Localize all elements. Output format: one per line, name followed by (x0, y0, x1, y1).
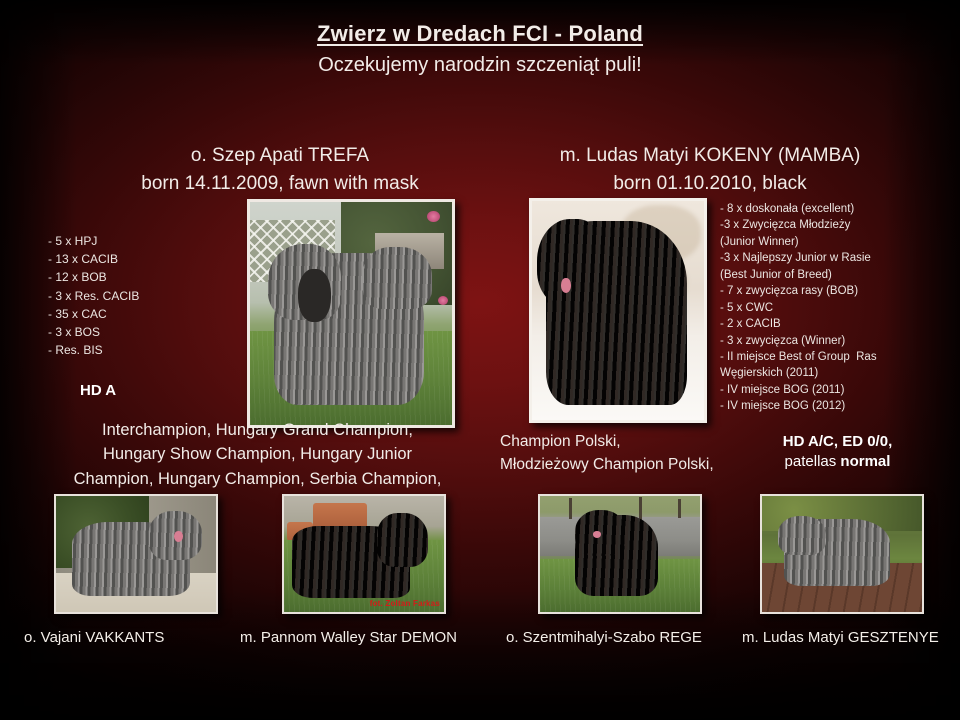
dam-title-line: Młodzieżowy Champion Polski, (500, 454, 750, 477)
sire-hd-label: HD A (80, 382, 116, 399)
dam-birth: born 01.10.2010, black (500, 170, 920, 198)
grandparent-photo-3 (538, 494, 702, 614)
dog-tongue (561, 278, 571, 293)
list-item: - 3 x zwycięzca (Winner) (720, 333, 920, 349)
dam-photo (529, 198, 707, 423)
flower (438, 296, 448, 305)
list-item: -3 x Zwycięzca Młodzieży (720, 217, 920, 233)
presentation-slide: Zwierz w Dredach FCI - Poland Oczekujemy… (0, 0, 960, 720)
sire-titles: Interchampion, Hungary Grand Champion, H… (55, 418, 460, 491)
list-item: (Junior Winner) (720, 234, 920, 250)
grandparent-photo-4 (760, 494, 924, 614)
grandparent-caption-4: m. Ludas Matyi GESZTENYE (742, 629, 939, 646)
dog-head (537, 219, 606, 307)
sire-title-line: Champion, Hungary Champion, Serbia Champ… (55, 467, 460, 491)
dam-name: m. Ludas Matyi KOKENY (MAMBA) (500, 142, 920, 170)
page-title: Zwierz w Dredach FCI - Poland (0, 20, 960, 48)
list-item: - 12 x BOB (48, 268, 139, 286)
tree (569, 498, 572, 519)
list-item: - 2 x CACIB (720, 316, 920, 332)
dog-tongue (593, 531, 601, 538)
sire-title-line: Hungary Show Champion, Hungary Junior (55, 442, 460, 466)
photo-scene (284, 496, 444, 612)
grandparent-caption-2: m. Pannom Walley Star DEMON (240, 629, 457, 646)
flower (427, 211, 440, 222)
list-item: - 35 x CAC (48, 305, 139, 323)
tree (639, 497, 642, 520)
grandparent-photo-2: fot. Zoltan Farkas (282, 494, 446, 614)
page-subtitle: Oczekujemy narodzin szczeniąt puli! (0, 53, 960, 78)
list-item: - 7 x zwycięzca rasy (BOB) (720, 283, 920, 299)
grandparent-caption-3: o. Szentmihalyi-Szabo REGE (506, 629, 702, 646)
sire-header: o. Szep Apati TREFA born 14.11.2009, faw… (80, 142, 480, 197)
grandparent-caption-1: o. Vajani VAKKANTS (24, 629, 164, 646)
list-item: - 3 x Res. CACIB (48, 287, 139, 305)
list-item: - 13 x CACIB (48, 250, 139, 268)
list-item: - 3 x BOS (48, 323, 139, 341)
dam-title-line: Champion Polski, (500, 431, 750, 454)
dog-head (377, 513, 428, 566)
dam-patellas-value: normal (840, 453, 890, 470)
sire-title-line: Interchampion, Hungary Grand Champion, (55, 418, 460, 442)
dam-header: m. Ludas Matyi KOKENY (MAMBA) born 01.10… (500, 142, 920, 197)
photo-scene (762, 496, 922, 612)
dam-achievements-list: - 8 x doskonała (excellent) -3 x Zwycięz… (720, 201, 920, 415)
sire-photo (247, 199, 455, 428)
photo-scene (250, 202, 452, 425)
photo-scene (56, 496, 216, 612)
list-item: - 5 x HPJ (48, 232, 139, 250)
sire-birth: born 14.11.2009, fawn with mask (80, 170, 480, 198)
dog-face-shadow (298, 269, 330, 323)
list-item: - Res. BIS (48, 341, 139, 359)
photo-watermark: fot. Zoltan Farkas (370, 599, 440, 608)
dam-hd-line: HD A/C, ED 0/0, (783, 433, 892, 450)
dog-rear (363, 247, 432, 309)
sire-name: o. Szep Apati TREFA (80, 142, 480, 170)
slide-title-block: Zwierz w Dredach FCI - Poland Oczekujemy… (0, 20, 960, 78)
dam-health-label: HD A/C, ED 0/0, patellas normal (735, 432, 940, 473)
list-item: - 8 x doskonała (excellent) (720, 201, 920, 217)
list-item: - IV miejsce BOG (2012) (720, 398, 920, 414)
list-item: -3 x Najlepszy Junior w Rasie (720, 250, 920, 266)
list-item: - II miejsce Best of Group Ras (720, 349, 920, 365)
tree (678, 499, 681, 518)
dam-patellas-line: patellas normal (735, 452, 940, 472)
photo-scene (540, 496, 700, 612)
grandparent-photo-1 (54, 494, 218, 614)
sire-achievements-list: - 5 x HPJ - 13 x CACIB - 12 x BOB - 3 x … (48, 232, 139, 360)
dam-titles: Champion Polski, Młodzieżowy Champion Po… (500, 431, 750, 477)
list-item: - IV miejsce BOG (2011) (720, 382, 920, 398)
list-item: - 5 x CWC (720, 300, 920, 316)
list-item: Węgierskich (2011) (720, 365, 920, 381)
dog-head (778, 516, 826, 555)
list-item: (Best Junior of Breed) (720, 267, 920, 283)
photo-scene (532, 201, 704, 420)
dam-patellas-prefix: patellas (785, 453, 841, 470)
